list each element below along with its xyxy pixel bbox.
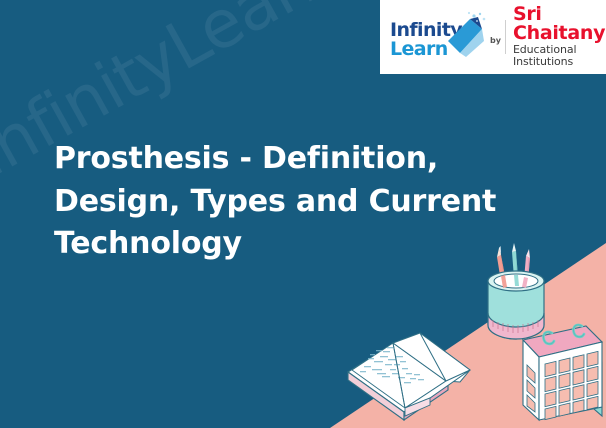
sri-chaitanya-logo[interactable]: Sri Chaitanya Educational Institutions	[513, 5, 606, 69]
logo-divider	[505, 20, 506, 54]
by-label: by	[488, 36, 505, 45]
sri-chaitanya-title: Sri Chaitanya	[513, 5, 606, 44]
learn-wordmark: Learn	[390, 38, 448, 60]
open-book-icon	[348, 333, 470, 420]
poster-canvas: InfinityLearn.com Infinity Learn by Sri …	[0, 0, 606, 428]
sri-chaitanya-subtitle: Educational Institutions	[513, 44, 606, 69]
brand-logo-bar[interactable]: Infinity Learn by Sri Chaitanya Educatio…	[380, 0, 606, 74]
infinity-learn-logo[interactable]: Infinity Learn	[388, 9, 488, 65]
desk-calendar-icon	[523, 325, 602, 420]
infinity-swoosh-icon	[444, 11, 488, 59]
page-title: Prosthesis - Definition, Design, Types a…	[54, 138, 564, 266]
